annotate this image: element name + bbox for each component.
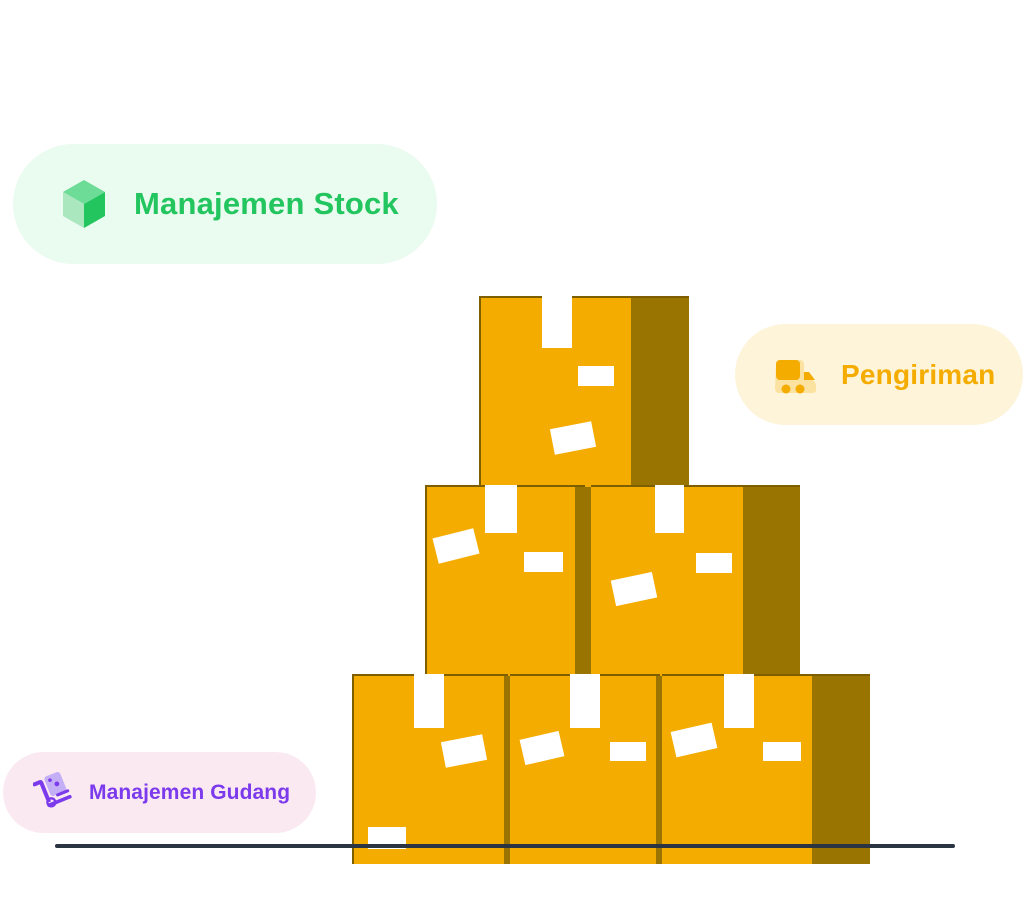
hand-truck-icon — [33, 772, 73, 814]
carton-middle-divider — [575, 487, 591, 677]
carton-label — [578, 366, 614, 386]
illustration-canvas: Manajemen Stock Pengiriman — [0, 0, 1024, 907]
badge-label-manajemen-gudang: Manajemen Gudang — [89, 781, 290, 805]
badge-manajemen-gudang[interactable]: Manajemen Gudang — [3, 752, 316, 833]
carton-label — [485, 485, 517, 533]
carton-label — [414, 674, 444, 728]
carton-middle-2-side-panel — [743, 487, 800, 677]
badge-manajemen-stock[interactable]: Manajemen Stock — [13, 144, 437, 264]
carton-top-1-side-panel — [631, 298, 689, 491]
carton-label — [655, 485, 684, 533]
carton-label — [610, 742, 646, 761]
carton-bottom-3-side-panel — [812, 676, 870, 864]
carton-label — [724, 674, 754, 728]
carton-label — [542, 296, 572, 348]
ground-line — [55, 844, 955, 848]
badge-pengiriman[interactable]: Pengiriman — [735, 324, 1023, 425]
carton-label — [763, 742, 801, 761]
carton-label — [570, 674, 600, 728]
badge-label-manajemen-stock: Manajemen Stock — [134, 186, 399, 222]
carton-label — [524, 552, 563, 572]
badge-label-pengiriman: Pengiriman — [841, 359, 995, 391]
carton-label — [696, 553, 732, 573]
cube-icon — [60, 178, 108, 230]
delivery-truck-icon — [773, 354, 819, 396]
